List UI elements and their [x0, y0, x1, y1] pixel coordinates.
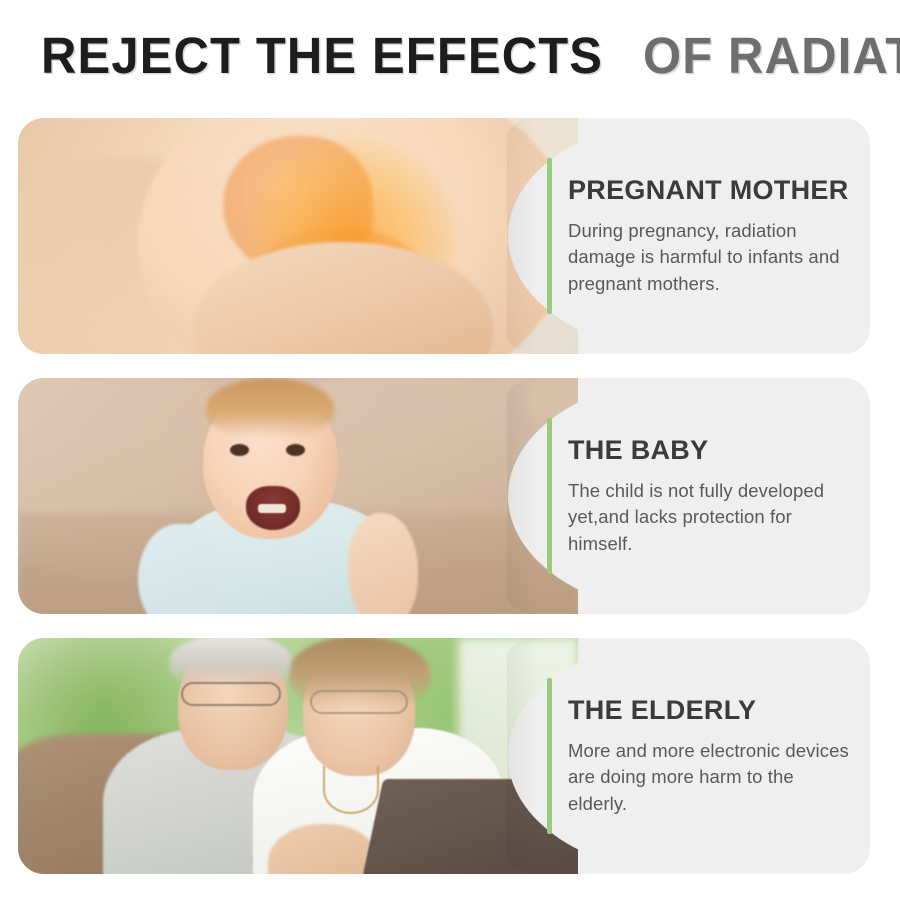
- baby-eye-right-shape: [286, 444, 305, 456]
- baby-photo: [18, 378, 578, 614]
- elderly-couple-photo: [18, 638, 578, 874]
- info-card-pregnant-mother: PREGNANT MOTHER During pregnancy, radiat…: [18, 118, 870, 354]
- baby-eye-left-shape: [230, 444, 249, 456]
- card-heading: PREGNANT MOTHER: [568, 175, 852, 207]
- pregnant-mother-photo: [18, 118, 578, 354]
- baby-tooth-shape: [258, 504, 286, 513]
- page-title-primary: REJECT THE EFFECTS: [41, 30, 603, 81]
- card-heading: THE BABY: [568, 435, 852, 467]
- panel-content: THE BABY The child is not fully develope…: [568, 378, 852, 614]
- accent-bar: [547, 158, 552, 314]
- panel-content: THE ELDERLY More and more electronic dev…: [568, 638, 852, 874]
- accent-bar: [547, 418, 552, 574]
- text-panel: THE BABY The child is not fully develope…: [508, 378, 870, 614]
- necklace-shape: [323, 766, 379, 814]
- page-title: REJECT THE EFFECTS OF RADIATION: [41, 26, 861, 84]
- text-panel: THE ELDERLY More and more electronic dev…: [508, 638, 870, 874]
- info-card-the-baby: THE BABY The child is not fully develope…: [18, 378, 870, 614]
- info-card-the-elderly: THE ELDERLY More and more electronic dev…: [18, 638, 870, 874]
- elderly-woman-glasses-shape: [310, 690, 408, 714]
- accent-bar: [547, 678, 552, 834]
- card-body: The child is not fully developed yet,and…: [568, 478, 852, 557]
- panel-content: PREGNANT MOTHER During pregnancy, radiat…: [568, 118, 852, 354]
- card-body: More and more electronic devices are doi…: [568, 738, 852, 817]
- elderly-man-hair-shape: [170, 638, 292, 686]
- baby-hair-shape: [206, 378, 334, 438]
- card-body: During pregnancy, radiation damage is ha…: [568, 218, 852, 297]
- text-panel: PREGNANT MOTHER During pregnancy, radiat…: [508, 118, 870, 354]
- page-title-secondary: OF RADIATION: [643, 30, 900, 81]
- elderly-man-glasses-shape: [181, 682, 281, 706]
- baby-arm-left-shape: [138, 524, 218, 614]
- card-heading: THE ELDERLY: [568, 695, 852, 727]
- poster-root: REJECT THE EFFECTS OF RADIATION PREGNANT…: [0, 0, 900, 900]
